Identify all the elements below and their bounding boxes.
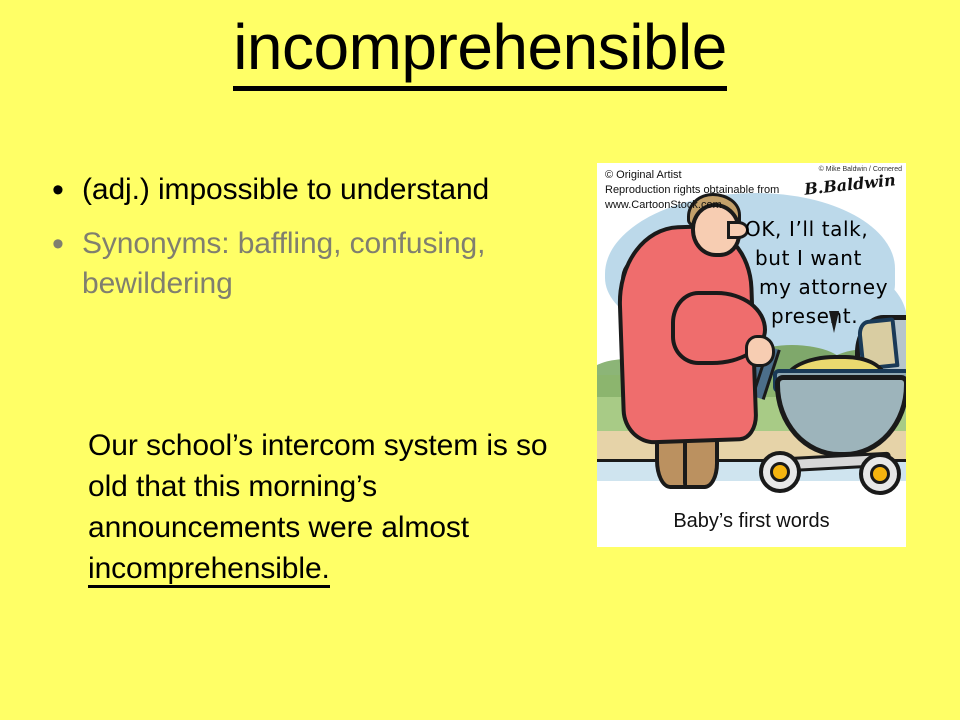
copyright-notice: © Original Artist Reproduction rights ob… xyxy=(605,168,779,213)
bullet-text-synonyms: Synonyms: baffling, confusing, bewilderi… xyxy=(82,224,572,304)
cartoon-image: OK, I’ll talk, but I want my attorney pr… xyxy=(597,163,906,547)
speech-line: OK, I’ll talk, xyxy=(745,215,906,244)
bullet-list: • (adj.) impossible to understand • Syno… xyxy=(52,170,572,318)
bullet-marker-icon: • xyxy=(52,224,82,264)
cartoon-scene: OK, I’ll talk, but I want my attorney pr… xyxy=(597,163,906,508)
bullet-marker-icon: • xyxy=(52,170,82,210)
page-title: incomprehensible xyxy=(0,14,960,81)
speech-line: my attorney xyxy=(745,273,906,302)
foreground-band xyxy=(597,481,906,508)
pram-wheel-icon xyxy=(759,451,801,493)
example-sentence-term: incomprehensible. xyxy=(88,552,330,588)
speech-line: present. xyxy=(745,302,906,331)
example-sentence-lead: Our school’s intercom system is so old t… xyxy=(88,429,548,544)
copyright-line: Reproduction rights obtainable from xyxy=(605,183,779,198)
copyright-line: © Original Artist xyxy=(605,168,779,183)
slide-canvas: incomprehensible • (adj.) impossible to … xyxy=(0,0,960,720)
copyright-line: www.CartoonStock.com xyxy=(605,198,779,213)
speech-text: OK, I’ll talk, but I want my attorney pr… xyxy=(745,215,906,331)
list-item: • Synonyms: baffling, confusing, bewilde… xyxy=(52,224,572,304)
example-sentence: Our school’s intercom system is so old t… xyxy=(88,425,588,589)
hand xyxy=(745,335,775,367)
speech-pointer-icon xyxy=(829,311,839,333)
artist-signature: B.Baldwin xyxy=(804,170,897,198)
pram-wheel-icon xyxy=(859,453,901,495)
speech-line: but I want xyxy=(745,244,906,273)
list-item: • (adj.) impossible to understand xyxy=(52,170,572,210)
page-title-text: incomprehensible xyxy=(233,11,727,91)
bullet-text-definition: (adj.) impossible to understand xyxy=(82,170,489,210)
cartoon-caption: Baby’s first words xyxy=(597,510,906,533)
